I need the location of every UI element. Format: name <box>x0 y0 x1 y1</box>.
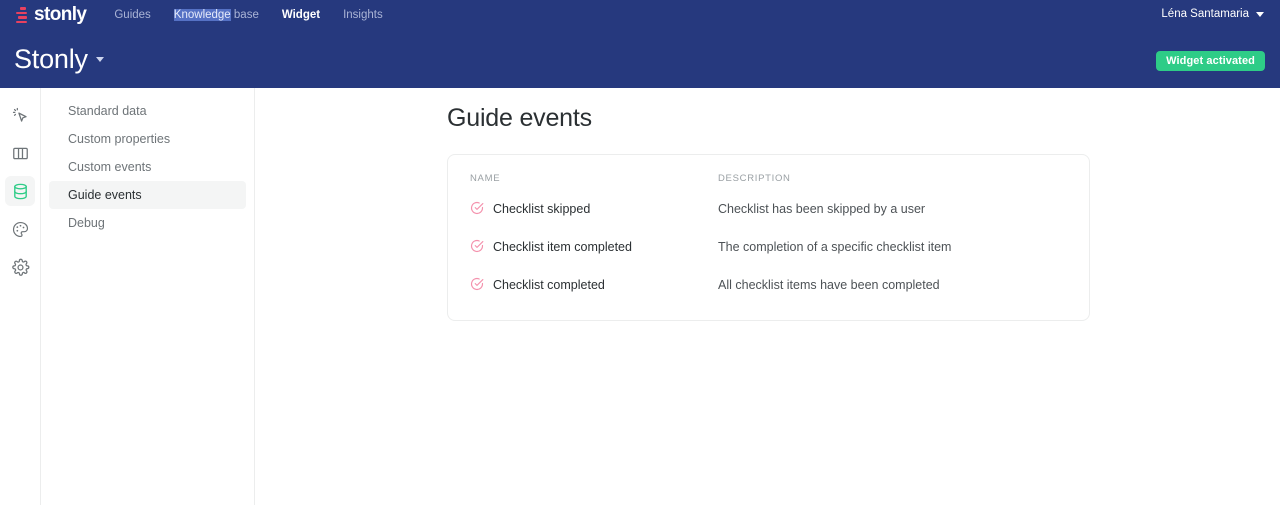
main-content: Guide events NAME DESCRIPTION Checklist … <box>255 88 1280 505</box>
row-name-text: Checklist skipped <box>493 202 590 216</box>
nav-links: Guides Knowledge base Widget Insights <box>114 9 382 21</box>
row-description-text: All checklist items have been completed <box>718 278 1067 292</box>
table-row[interactable]: Checklist skipped Checklist has been ski… <box>448 190 1089 228</box>
sidebar-item-guide-events[interactable]: Guide events <box>49 181 246 209</box>
status-badge: Widget activated <box>1156 51 1265 71</box>
sidebar-item-debug[interactable]: Debug <box>49 209 246 237</box>
rail-item-appearance[interactable] <box>5 214 35 244</box>
workspace-title-row: Stonly <box>0 30 1280 88</box>
workspace-selector[interactable]: Stonly <box>14 44 104 75</box>
caret-down-icon <box>96 57 104 62</box>
sidebar-item-custom-events[interactable]: Custom events <box>49 153 246 181</box>
body-region: Standard data Custom properties Custom e… <box>0 88 1280 505</box>
rail-item-data[interactable] <box>5 176 35 206</box>
nav-link-insights[interactable]: Insights <box>343 9 383 21</box>
row-name-text: Checklist completed <box>493 278 605 292</box>
rail-item-layout[interactable] <box>5 138 35 168</box>
nav-link-knowledge-base[interactable]: Knowledge base <box>174 9 259 21</box>
check-circle-icon <box>470 201 484 218</box>
account-name: Léna Santamaria <box>1161 8 1249 20</box>
nav-link-knowledge-base-selected-text: Knowledge <box>174 9 231 21</box>
chevron-down-icon <box>1256 12 1264 17</box>
nav-link-guides[interactable]: Guides <box>114 9 150 21</box>
check-circle-icon <box>470 277 484 294</box>
page-title: Guide events <box>447 104 1280 133</box>
primary-nav-row: stonly Guides Knowledge base Widget Insi… <box>0 0 1280 30</box>
sidebar-item-label: Custom properties <box>68 132 170 146</box>
row-name-cell: Checklist skipped <box>470 201 718 218</box>
stonly-logo-icon <box>16 7 29 23</box>
row-description-text: The completion of a specific checklist i… <box>718 240 1067 254</box>
logo-text: stonly <box>34 4 86 26</box>
nav-link-widget[interactable]: Widget <box>282 9 320 21</box>
workspace-name: Stonly <box>14 44 88 75</box>
card-bottom-padding <box>448 304 1089 320</box>
table-header: NAME DESCRIPTION <box>448 155 1089 190</box>
sidebar-item-custom-properties[interactable]: Custom properties <box>49 125 246 153</box>
column-header-description: DESCRIPTION <box>718 173 1067 184</box>
sidebar-item-label: Debug <box>68 216 105 230</box>
sidebar-item-label: Guide events <box>68 188 142 202</box>
table-row[interactable]: Checklist completed All checklist items … <box>448 266 1089 304</box>
icon-rail <box>0 88 41 505</box>
gear-icon <box>11 258 30 277</box>
sidebar-item-label: Custom events <box>68 160 151 174</box>
settings-sidebar: Standard data Custom properties Custom e… <box>41 88 255 505</box>
row-name-cell: Checklist item completed <box>470 239 718 256</box>
sidebar-item-standard-data[interactable]: Standard data <box>49 97 246 125</box>
guide-events-card: NAME DESCRIPTION Checklist skipped Check… <box>447 154 1090 321</box>
top-header: stonly Guides Knowledge base Widget Insi… <box>0 0 1280 88</box>
cursor-click-icon <box>11 106 30 125</box>
row-name-cell: Checklist completed <box>470 277 718 294</box>
sidebar-item-label: Standard data <box>68 104 147 118</box>
check-circle-icon <box>470 239 484 256</box>
row-description-text: Checklist has been skipped by a user <box>718 202 1067 216</box>
account-menu[interactable]: Léna Santamaria <box>1161 8 1264 20</box>
table-row[interactable]: Checklist item completed The completion … <box>448 228 1089 266</box>
columns-layout-icon <box>11 144 30 163</box>
palette-icon <box>11 220 30 239</box>
database-icon <box>11 182 30 201</box>
column-header-name: NAME <box>470 173 718 184</box>
row-name-text: Checklist item completed <box>493 240 632 254</box>
stonly-logo[interactable]: stonly <box>16 4 86 26</box>
rail-item-settings[interactable] <box>5 252 35 282</box>
rail-item-cursor-click[interactable] <box>5 100 35 130</box>
nav-link-knowledge-base-rest-text: base <box>231 9 259 21</box>
